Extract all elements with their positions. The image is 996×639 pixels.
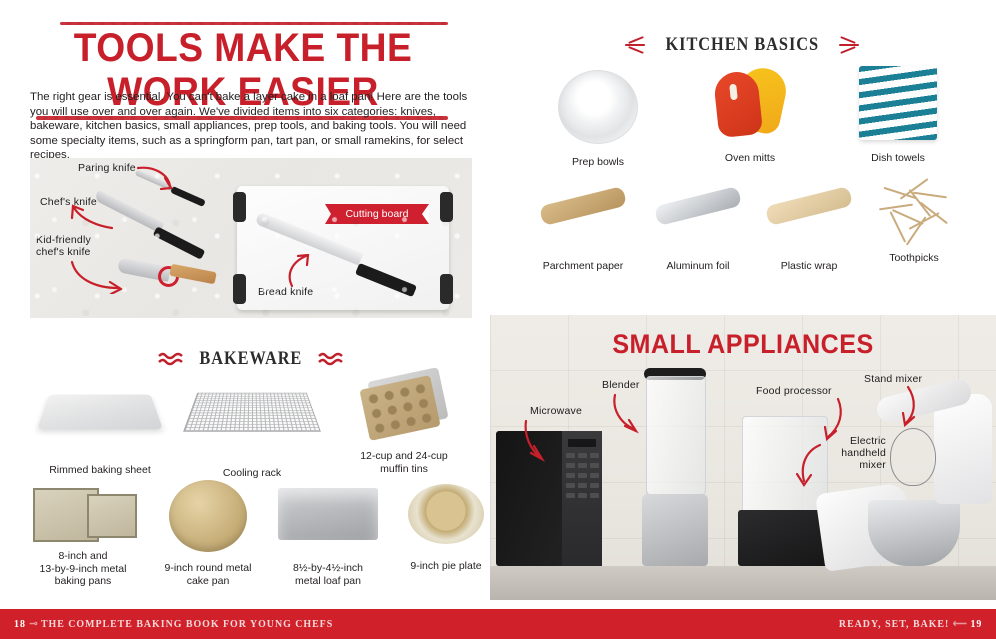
footer-right: READY, SET, BAKE! ⟵ 19 <box>839 617 982 630</box>
food-processor-callout-label: Food processor <box>756 385 832 397</box>
microwave-callout-label: Microwave <box>530 405 582 417</box>
footer-left: 18 ⊸ THE COMPLETE BAKING BOOK FOR YOUNG … <box>14 617 333 630</box>
bakeware-caption: baking pans <box>18 575 148 588</box>
board-grip-icon <box>233 274 246 304</box>
bakeware-item: Rimmed baking sheet <box>24 382 176 477</box>
kitchen-basics-caption: Oven mitts <box>672 152 828 165</box>
kid-friendly-knife-label: Kid-friendly chef's knife <box>36 234 91 258</box>
loaf-pan-icon <box>278 488 378 540</box>
bakeware-item: 8½-by-4½-inch metal loaf pan <box>264 488 392 587</box>
page-footer: 18 ⊸ THE COMPLETE BAKING BOOK FOR YOUNG … <box>0 609 996 639</box>
blender-callout-label: Blender <box>602 379 640 391</box>
food-processor-base <box>738 510 830 566</box>
kitchen-basics-section-header: KITCHEN BASICS <box>496 34 988 56</box>
burst-ornament-left-icon <box>620 37 646 53</box>
cake-pan-icon <box>169 480 247 552</box>
bakeware-caption: Cooling rack <box>176 467 328 480</box>
oven-mitts-icon <box>704 66 796 142</box>
arrow-to-handheld-mixer-icon <box>790 441 824 489</box>
blender-jar <box>646 376 706 496</box>
wave-ornament-left-icon <box>158 351 184 367</box>
bakeware-item: 8-inch and 13-by-9-inch metal baking pan… <box>18 484 148 588</box>
kitchen-basics-item: Oven mitts <box>672 66 828 165</box>
kitchen-basics-item: Prep bowls <box>520 70 676 169</box>
footer-right-chapter-title: READY, SET, BAKE! <box>839 618 949 630</box>
bakeware-caption: cake pan <box>144 575 272 588</box>
kitchen-basics-caption: Prep bowls <box>520 156 676 169</box>
bakeware-item: 9-inch round metal cake pan <box>144 480 272 587</box>
board-grip-icon <box>440 192 453 222</box>
bread-knife-handle <box>355 263 417 297</box>
kitchen-basics-caption: Dish towels <box>820 152 976 165</box>
bakeware-heading: BAKEWARE <box>200 348 303 370</box>
microwave-control-panel <box>562 431 602 566</box>
dish-towels-icon <box>859 66 937 140</box>
plastic-wrap-roll-icon <box>765 186 853 226</box>
footer-right-page-number: 19 <box>970 618 982 630</box>
footer-left-arrow-icon: ⊸ <box>29 618 37 630</box>
kitchen-basics-item: Toothpicks <box>852 186 976 265</box>
kitchen-basics-caption: Toothpicks <box>852 252 976 265</box>
arrow-to-blender-icon <box>612 393 644 435</box>
stand-mixer-body <box>934 394 992 504</box>
burst-ornament-right-icon <box>838 37 864 53</box>
blender-appliance <box>638 376 712 566</box>
blender-base <box>642 494 708 566</box>
food-processor-appliance <box>738 416 830 566</box>
footer-left-page-number: 18 <box>14 618 26 630</box>
kitchen-basics-heading: KITCHEN BASICS <box>665 34 819 56</box>
bakeware-caption: metal loaf pan <box>264 575 392 588</box>
stand-mixer-bowl <box>868 500 960 566</box>
bakeware-caption: 8½-by-4½-inch <box>264 562 392 575</box>
board-grip-icon <box>233 192 246 222</box>
foil-roll-icon <box>654 186 742 226</box>
muffin-tin-icon <box>362 374 446 436</box>
bakeware-item: 9-inch pie plate <box>386 484 506 573</box>
cookbook-spread: TOOLS MAKE THE WORK EASIER The right gea… <box>0 0 996 639</box>
parchment-roll-icon <box>539 186 627 226</box>
whisk-attachment-icon <box>890 428 936 486</box>
arrow-to-paring-knife-icon <box>136 164 180 194</box>
bakeware-caption: 9-inch round metal <box>144 562 272 575</box>
pie-plate-icon <box>408 484 484 544</box>
cooling-rack-icon <box>183 393 321 432</box>
paring-knife-label: Paring knife <box>78 162 136 174</box>
bakeware-caption: 13-by-9-inch metal <box>18 563 148 576</box>
bakeware-item: 12-cup and 24-cup muffin tins <box>328 374 480 475</box>
cutting-board-ribbon-label: Cutting board <box>325 204 429 224</box>
arrow-to-bread-knife-icon <box>282 254 314 288</box>
arrow-to-microwave-icon <box>522 419 552 463</box>
bakeware-caption: muffin tins <box>328 463 480 476</box>
bakeware-caption: 12-cup and 24-cup <box>328 450 480 463</box>
wave-ornament-right-icon <box>318 351 344 367</box>
small-appliances-photo-panel: SMALL APPLIANCES <box>490 315 996 600</box>
knives-photo-panel: Cutting board Paring knife Chef's knife … <box>30 158 472 318</box>
arrow-to-chefs-knife-icon <box>68 200 116 230</box>
board-grip-icon <box>440 274 453 304</box>
footer-right-arrow-icon: ⟵ <box>952 618 966 630</box>
chefs-knife-handle <box>153 226 206 259</box>
kitchen-basics-item: Dish towels <box>820 66 976 165</box>
arrow-to-kid-knife-icon <box>68 260 126 294</box>
countertop <box>490 566 996 600</box>
footer-left-book-title: THE COMPLETE BAKING BOOK FOR YOUNG CHEFS <box>41 618 333 630</box>
baking-sheet-icon <box>37 394 163 429</box>
bakeware-section-header: BAKEWARE <box>30 348 472 370</box>
intro-paragraph: The right gear is essential. You can't b… <box>30 90 478 163</box>
bakeware-caption: Rimmed baking sheet <box>24 464 176 477</box>
toothpicks-icon <box>873 186 955 244</box>
arrow-to-food-processor-icon <box>820 397 852 443</box>
prep-bowls-icon <box>558 70 638 144</box>
title-rule-top <box>60 22 448 25</box>
stand-mixer-callout-label: Stand mixer <box>864 373 922 385</box>
small-appliances-heading: SMALL APPLIANCES <box>508 329 979 360</box>
bakeware-caption: 8-inch and <box>18 550 148 563</box>
baking-pans-icon <box>29 484 137 542</box>
arrow-to-stand-mixer-icon <box>900 385 932 429</box>
bakeware-item: Cooling rack <box>176 380 328 480</box>
bakeware-caption: 9-inch pie plate <box>386 560 506 573</box>
